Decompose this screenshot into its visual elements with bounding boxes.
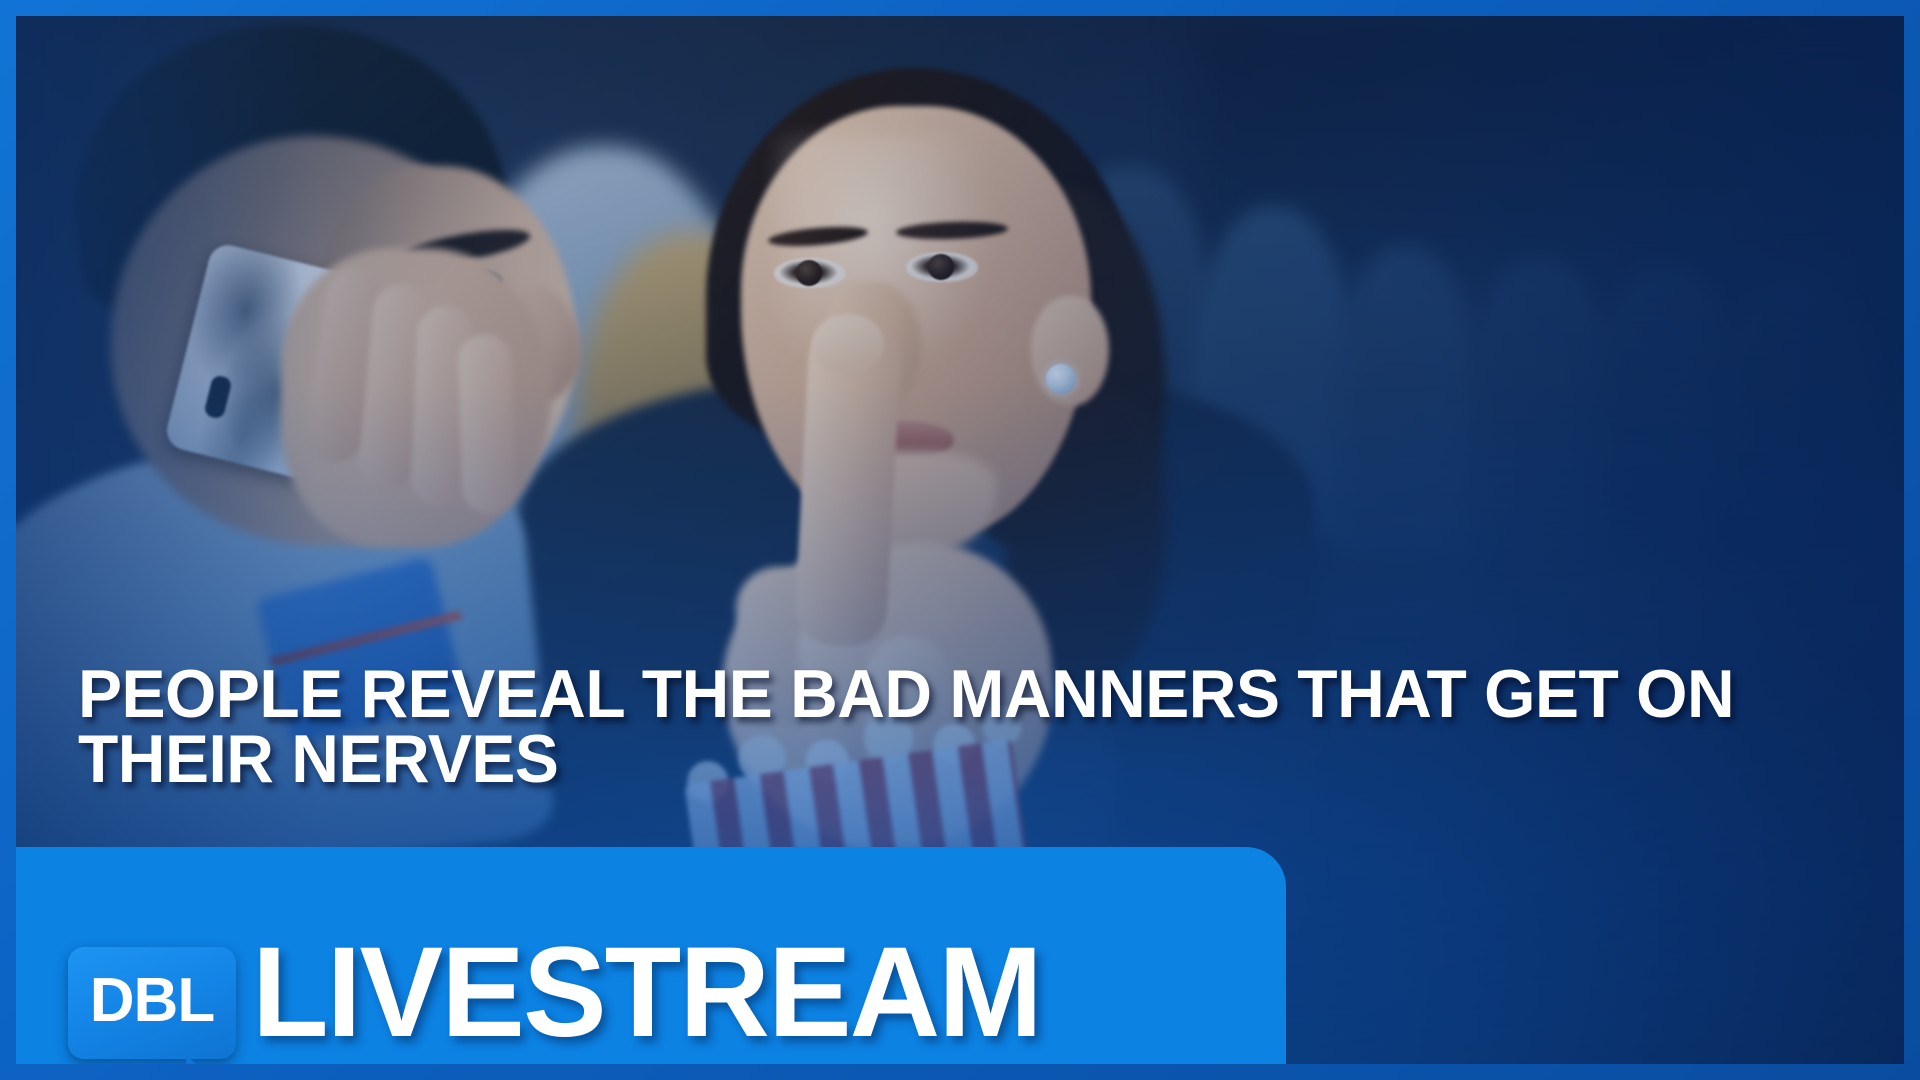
- banner-content: DBL LIVESTREAM: [16, 847, 1286, 1064]
- program-label: LIVESTREAM: [252, 929, 1041, 1057]
- headline-line-2: THEIR NERVES: [78, 727, 1824, 792]
- livestream-banner: DBL LIVESTREAM: [16, 847, 1286, 1064]
- page-title: PEOPLE REVEAL THE BAD MANNERS THAT GET O…: [78, 662, 1878, 791]
- brand-logo-text: DBL: [68, 947, 236, 1059]
- speech-bubble-icon[interactable]: DBL: [68, 947, 236, 1059]
- headline-line-1: PEOPLE REVEAL THE BAD MANNERS THAT GET O…: [78, 662, 1824, 727]
- thumbnail-frame: PEOPLE REVEAL THE BAD MANNERS THAT GET O…: [0, 0, 1920, 1080]
- photo-stage: PEOPLE REVEAL THE BAD MANNERS THAT GET O…: [16, 16, 1904, 1064]
